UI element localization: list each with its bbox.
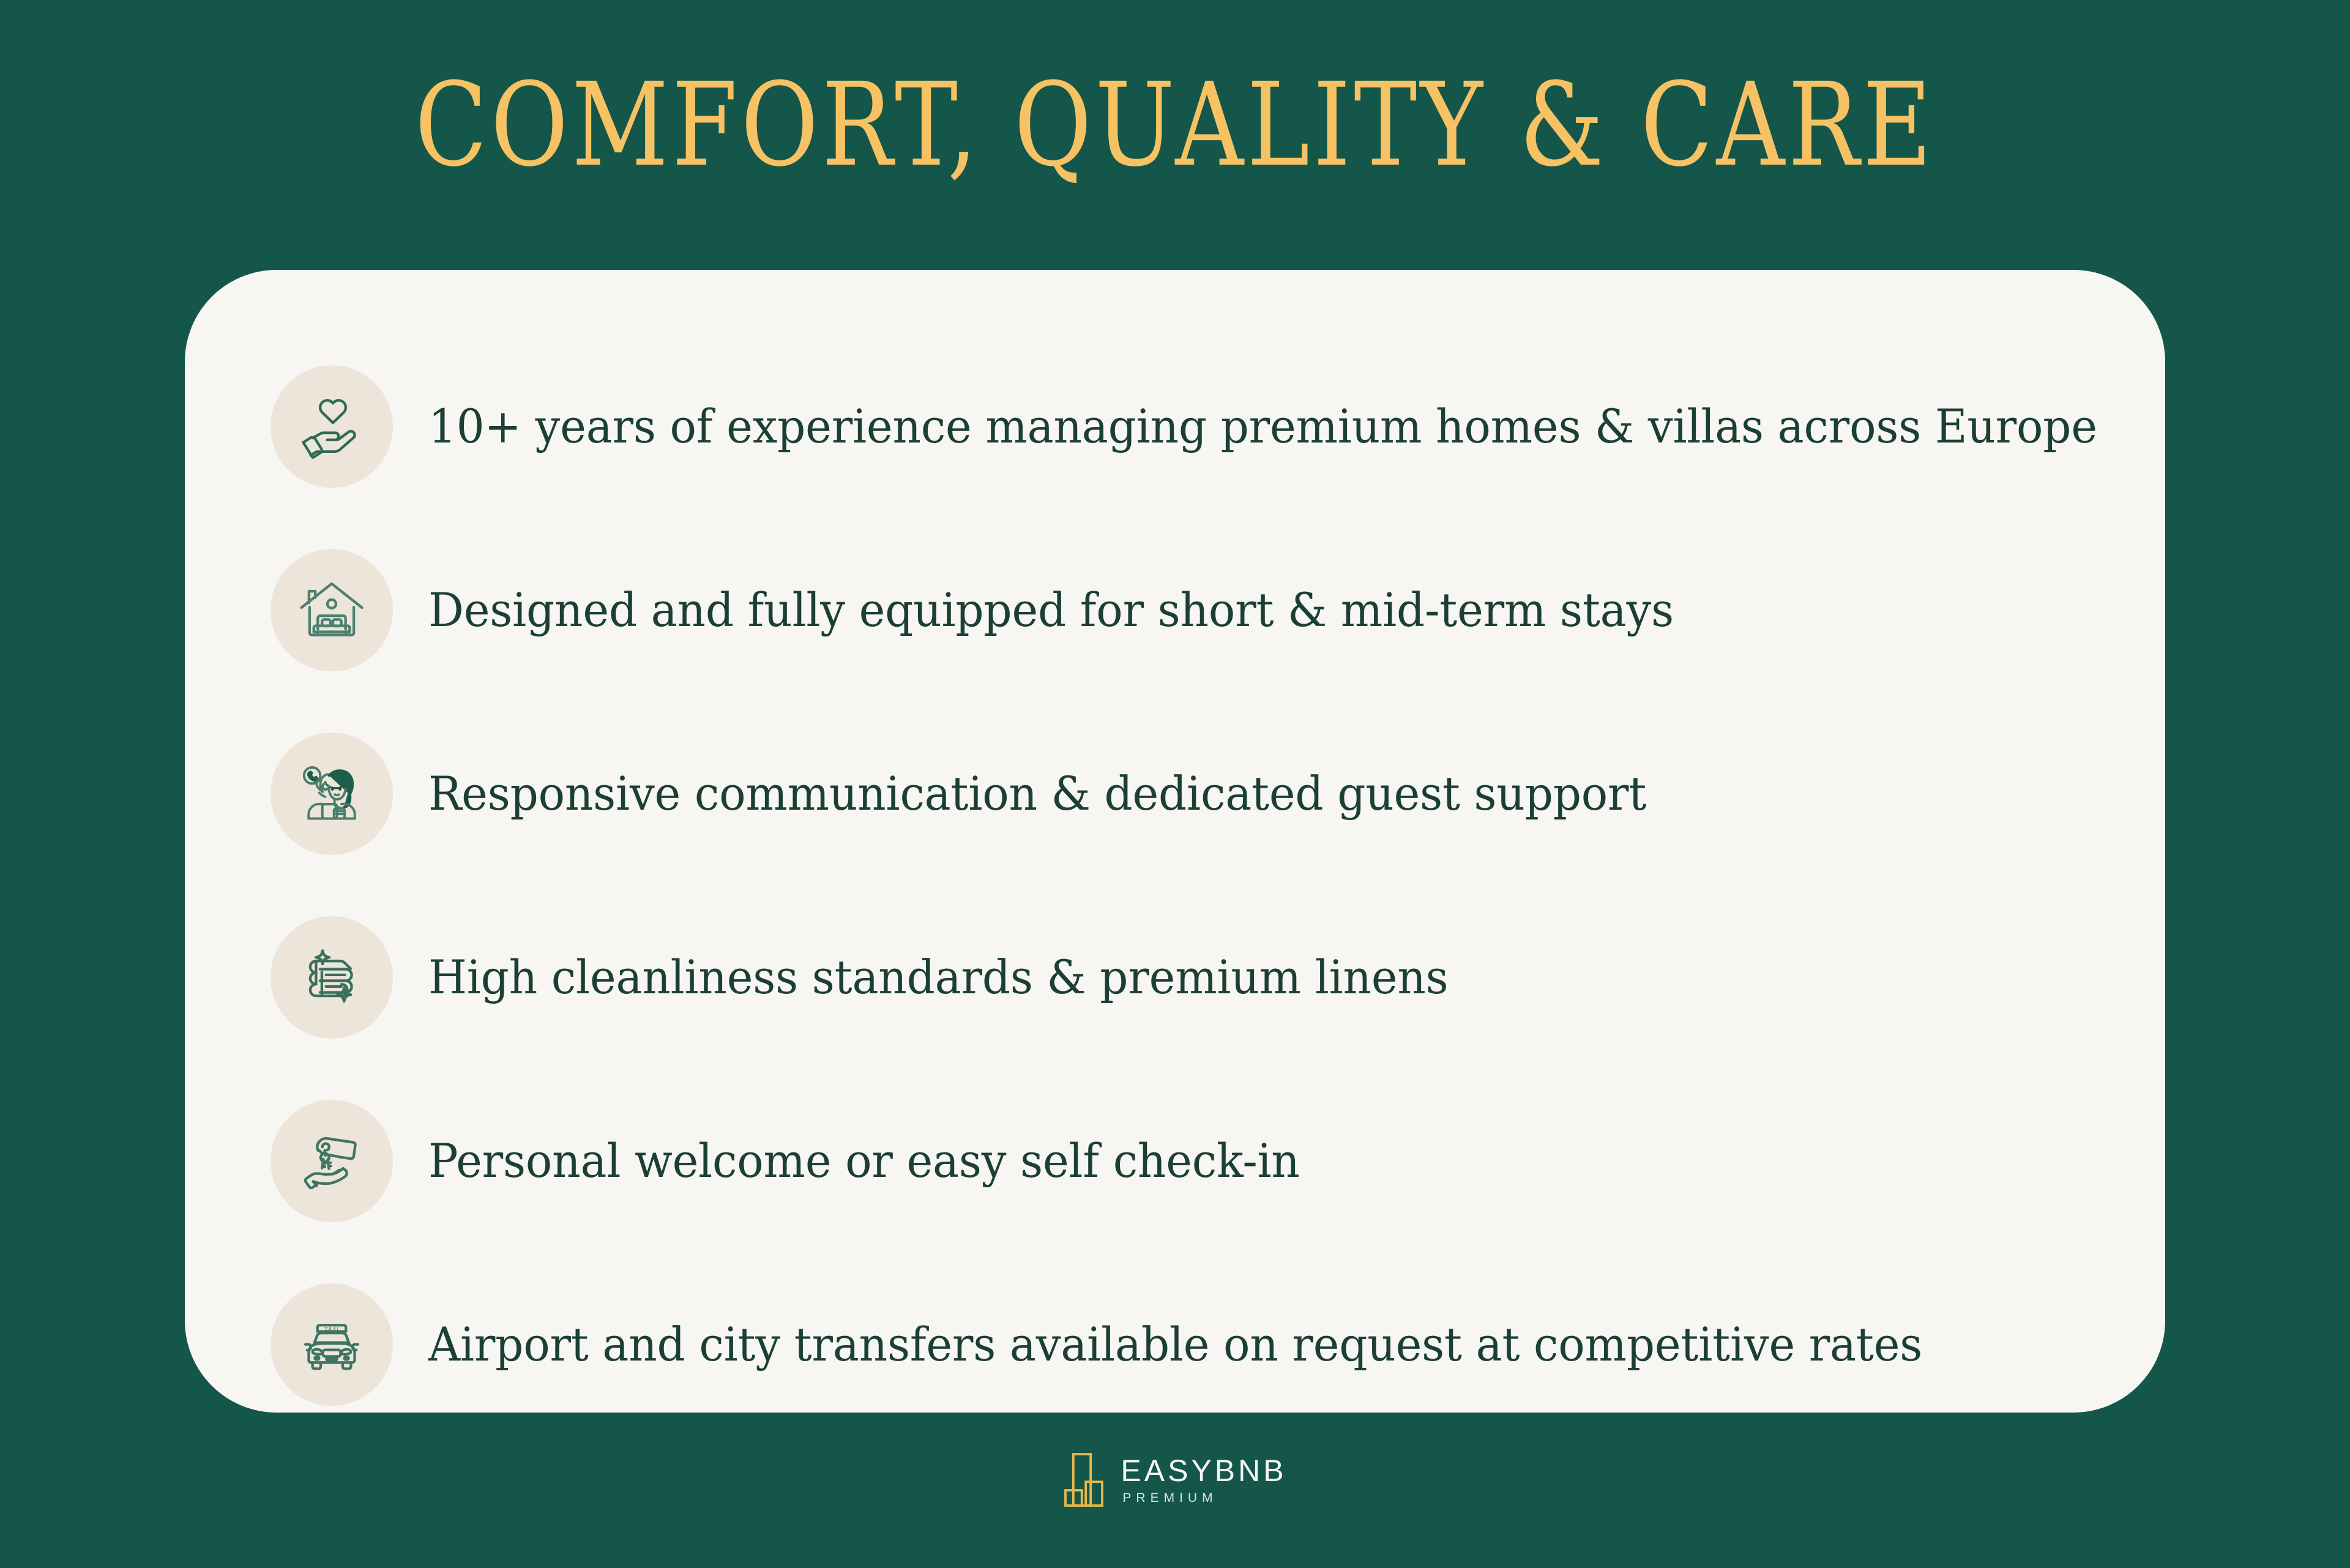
list-item: TAXI: [185, 1253, 2165, 1436]
page-title: COMFORT, QUALITY & CARE: [0, 67, 2350, 170]
list-item-label: High cleanliness standards & premium lin…: [428, 950, 1449, 1005]
feature-icon-badge: [270, 916, 393, 1039]
list-item-label: Responsive communication & dedicated gue…: [428, 766, 1646, 821]
list-item: 10+ years of experience managing premium…: [185, 335, 2165, 518]
list-item: Designed and fully equipped for short & …: [185, 518, 2165, 702]
list-item-label: Personal welcome or easy self check-in: [428, 1133, 1300, 1189]
buildings-logo-icon: [1063, 1452, 1105, 1508]
list-item: Personal welcome or easy self check-in: [185, 1069, 2165, 1253]
house-with-bed-icon: [291, 570, 372, 651]
feature-icon-badge: [270, 365, 393, 488]
folded-linens-sparkle-icon: [291, 937, 372, 1018]
hand-holding-heart-icon: [291, 386, 372, 467]
list-item: Responsive communication & dedicated gue…: [185, 702, 2165, 886]
feature-icon-badge: [270, 549, 393, 671]
list-item-label: Designed and fully equipped for short & …: [428, 583, 1674, 638]
feature-icon-badge: TAXI: [270, 1283, 393, 1406]
feature-icon-badge: [270, 733, 393, 855]
svg-text:TAXI: TAXI: [324, 1326, 339, 1332]
page-title-text: COMFORT, QUALITY & CARE: [415, 67, 1935, 182]
features-list: 10+ years of experience managing premium…: [185, 297, 2165, 1413]
list-item-label: 10+ years of experience managing premium…: [428, 399, 2097, 454]
list-item: High cleanliness standards & premium lin…: [185, 886, 2165, 1069]
key-handover-icon: [291, 1121, 372, 1201]
support-agent-phone-icon: [291, 753, 372, 834]
poster-canvas: COMFORT, QUALITY & CARE 10+ years of: [0, 0, 2350, 1568]
features-card: 10+ years of experience managing premium…: [185, 270, 2165, 1413]
feature-icon-badge: [270, 1100, 393, 1222]
taxi-car-icon: TAXI: [291, 1304, 372, 1385]
brand-name: EASYBNB: [1121, 1455, 1286, 1487]
list-item-label: Airport and city transfers available on …: [428, 1317, 1922, 1372]
footer-logo-text: EASYBNB PREMIUM: [1121, 1455, 1286, 1505]
footer-logo: EASYBNB PREMIUM: [0, 1452, 2350, 1508]
brand-tagline: PREMIUM: [1121, 1491, 1217, 1505]
